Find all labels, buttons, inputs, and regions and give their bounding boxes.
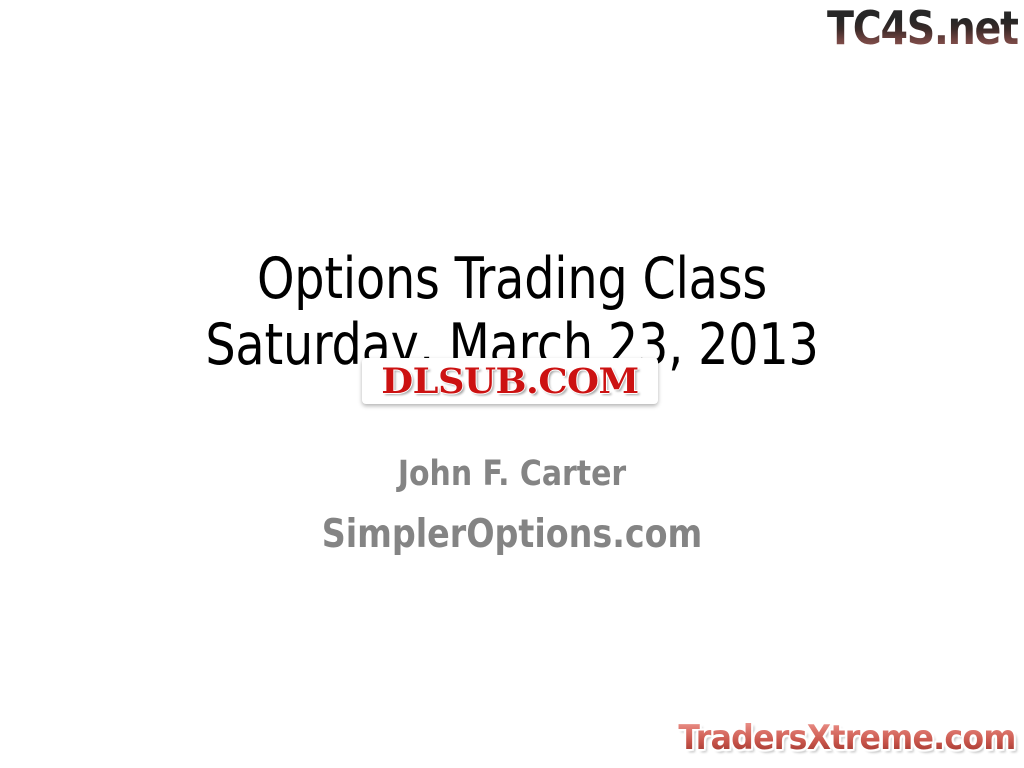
subtitle-block: John F. Carter SimplerOptions.com [0,444,1024,566]
tradersxtreme-logo: TradersXtreme.com TradersXtreme.com [679,718,1016,758]
presentation-slide: TC4S.net Options Trading Class Saturday,… [0,0,1024,768]
title-line-1: Options Trading Class [36,246,988,312]
watermark-label: DLSUB.COM [355,358,666,404]
dlsub-watermark: DLSUB.COM [362,358,658,404]
tc4s-logo: TC4S.net [827,2,1018,54]
presenter-name: John F. Carter [26,444,999,504]
tradersxtreme-logo-fill: TradersXtreme.com [679,718,1016,758]
presenter-website: SimplerOptions.com [26,504,999,566]
